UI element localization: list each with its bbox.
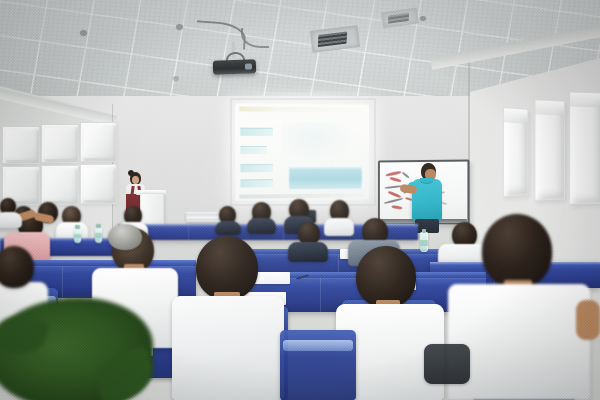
wall-niche-tall bbox=[569, 91, 600, 204]
attendee-body bbox=[247, 218, 276, 234]
projection-screen bbox=[236, 104, 370, 200]
classroom-photo bbox=[0, 0, 600, 400]
wall-niche bbox=[41, 165, 79, 205]
wall-niche-tall bbox=[535, 99, 565, 201]
attendee-body bbox=[215, 221, 241, 235]
attendee-body bbox=[324, 218, 354, 236]
wall-niche bbox=[2, 126, 40, 164]
ceiling-sensor-icon-2 bbox=[176, 24, 183, 29]
instructor-legs bbox=[415, 219, 439, 233]
slide-titlebar bbox=[239, 106, 365, 112]
attendee-head bbox=[0, 246, 34, 288]
chair bbox=[280, 330, 356, 400]
attendee-body bbox=[172, 296, 284, 400]
attendee-body bbox=[0, 212, 22, 228]
water-bottle bbox=[95, 227, 102, 243]
attendee-body bbox=[448, 284, 590, 400]
assistant-face bbox=[132, 176, 139, 184]
bag bbox=[424, 344, 470, 384]
slide-body-text bbox=[282, 122, 359, 162]
ceiling-sensor-icon-3 bbox=[420, 16, 426, 20]
ceiling-sensor-icon-4 bbox=[173, 76, 179, 80]
slide-sidebar-bar bbox=[240, 164, 273, 172]
attendee-head bbox=[108, 224, 142, 250]
attendee-head bbox=[482, 214, 552, 288]
attendee-body bbox=[288, 242, 328, 262]
wall-niche bbox=[41, 124, 79, 163]
slide-sidebar bbox=[240, 116, 274, 195]
projection-screen-surface bbox=[235, 103, 369, 200]
attendee-head bbox=[196, 236, 258, 300]
instructor-collar bbox=[420, 178, 433, 184]
slide-sidebar-bar bbox=[240, 179, 273, 187]
slide-footer bbox=[239, 193, 365, 198]
slide-sidebar-bar bbox=[240, 128, 273, 136]
wall-niche bbox=[80, 122, 117, 162]
slide-content-panel bbox=[288, 166, 363, 190]
attendee-head bbox=[356, 246, 416, 308]
water-bottle bbox=[420, 232, 428, 252]
wall-niche bbox=[80, 164, 117, 204]
slide-sidebar-bar bbox=[240, 146, 266, 154]
ceiling-projector bbox=[213, 59, 256, 74]
attendee-arm bbox=[576, 300, 600, 340]
water-bottle bbox=[74, 228, 81, 243]
ceiling-sensor-icon bbox=[80, 30, 87, 35]
wall-niche-tall bbox=[503, 107, 528, 197]
